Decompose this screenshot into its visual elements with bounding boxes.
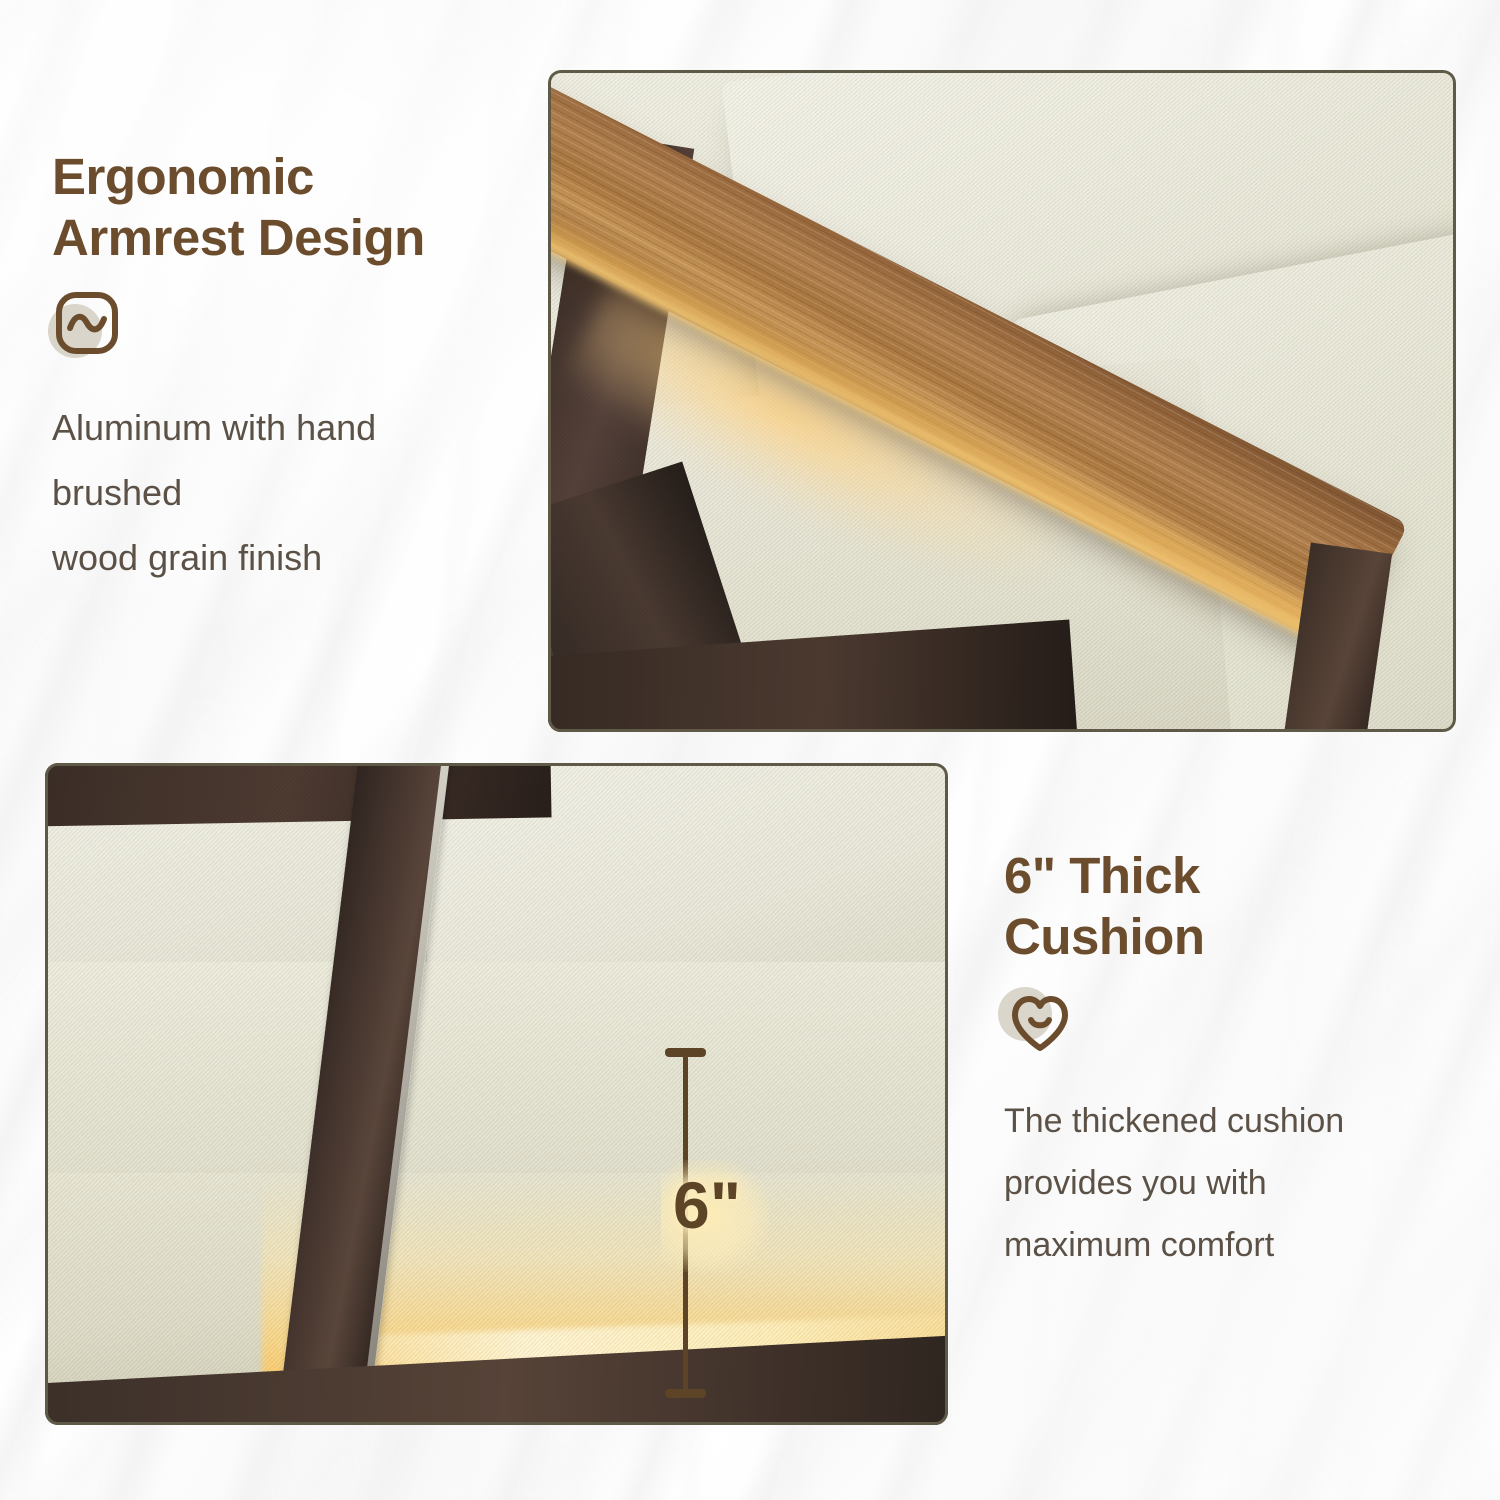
cushion-body-line-1: The thickened cushion — [1004, 1091, 1464, 1153]
photo-cushion-content — [45, 763, 948, 1425]
dimension-label: 6" — [673, 1172, 741, 1238]
dimension-annotation-6in: 6" — [655, 1040, 775, 1406]
cushion-fabric-weave — [45, 763, 948, 1425]
armrest-body-line-2: brushed — [52, 461, 522, 526]
feature-block-armrest: Ergonomic Armrest Design Aluminum with h… — [52, 146, 522, 591]
photo-cushion — [45, 763, 948, 1425]
wave-icon — [54, 290, 126, 362]
cushion-heading-line-2: Cushion — [1004, 906, 1464, 967]
armrest-heading-line-1: Ergonomic — [52, 146, 522, 207]
armrest-heading: Ergonomic Armrest Design — [52, 146, 522, 268]
heart-icon — [1006, 989, 1078, 1061]
cushion-body-line-2: provides you with — [1004, 1153, 1464, 1215]
armrest-body-line-1: Aluminum with hand — [52, 396, 522, 461]
photo-armrest-content — [548, 70, 1456, 732]
cushion-body-line-3: maximum comfort — [1004, 1215, 1464, 1277]
armrest-body-line-3: wood grain finish — [52, 526, 522, 591]
infographic-page: 6" Ergonomic Armrest Design Aluminum wit… — [0, 0, 1500, 1500]
dimension-cap-bottom — [665, 1389, 706, 1398]
feature-block-cushion: 6" Thick Cushion The thickened cushion p… — [1004, 845, 1464, 1277]
cushion-body: The thickened cushion provides you with … — [1004, 1091, 1464, 1277]
armrest-body: Aluminum with hand brushed wood grain fi… — [52, 396, 522, 590]
photo-armrest — [548, 70, 1456, 732]
armrest-heading-line-2: Armrest Design — [52, 207, 522, 268]
cushion-heading: 6" Thick Cushion — [1004, 845, 1464, 967]
dimension-cap-top — [665, 1048, 706, 1057]
cushion-heading-line-1: 6" Thick — [1004, 845, 1464, 906]
